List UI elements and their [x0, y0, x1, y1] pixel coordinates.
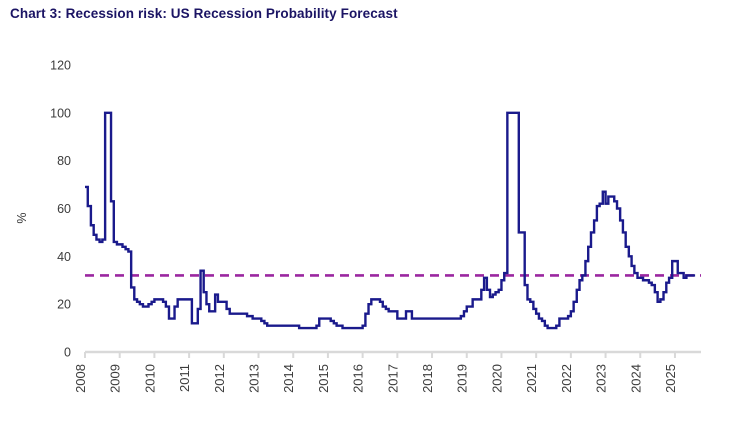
- x-tick-label: 2016: [351, 364, 366, 393]
- y-tick-label: 20: [57, 298, 71, 312]
- y-axis-title: %: [15, 212, 29, 223]
- x-tick-label: 2008: [73, 364, 88, 393]
- x-tick-label: 2023: [594, 364, 609, 393]
- y-tick-label: 40: [57, 250, 71, 264]
- x-tick-label: 2020: [489, 364, 504, 393]
- x-tick-label: 2024: [628, 364, 643, 393]
- x-tick-label: 2013: [247, 364, 262, 393]
- x-tick-label: 2012: [212, 364, 227, 393]
- x-tick-label: 2018: [420, 364, 435, 393]
- recession-probability-chart: 020406080100120 200820092010201120122013…: [0, 0, 730, 439]
- x-tick-label: 2017: [385, 364, 400, 393]
- x-tick-label: 2009: [108, 364, 123, 393]
- x-tick-label: 2014: [281, 364, 296, 393]
- y-axis-ticks: 020406080100120: [50, 59, 71, 360]
- x-tick-label: 2022: [559, 364, 574, 393]
- x-tick-label: 2010: [142, 364, 157, 393]
- chart-container: Chart 3: Recession risk: US Recession Pr…: [0, 0, 730, 439]
- x-tick-label: 2021: [524, 364, 539, 393]
- y-tick-label: 80: [57, 154, 71, 168]
- x-tick-label: 2025: [663, 364, 678, 393]
- x-tick-label: 2015: [316, 364, 331, 393]
- y-tick-label: 60: [57, 202, 71, 216]
- x-axis-ticks: 2008200920102011201220132014201520162017…: [73, 352, 678, 393]
- x-tick-label: 2011: [177, 364, 192, 392]
- series-line-us-recession-probability: [85, 113, 695, 328]
- y-tick-label: 100: [50, 106, 71, 120]
- y-tick-label: 0: [64, 346, 71, 360]
- x-tick-label: 2019: [455, 364, 470, 393]
- y-tick-label: 120: [50, 59, 71, 73]
